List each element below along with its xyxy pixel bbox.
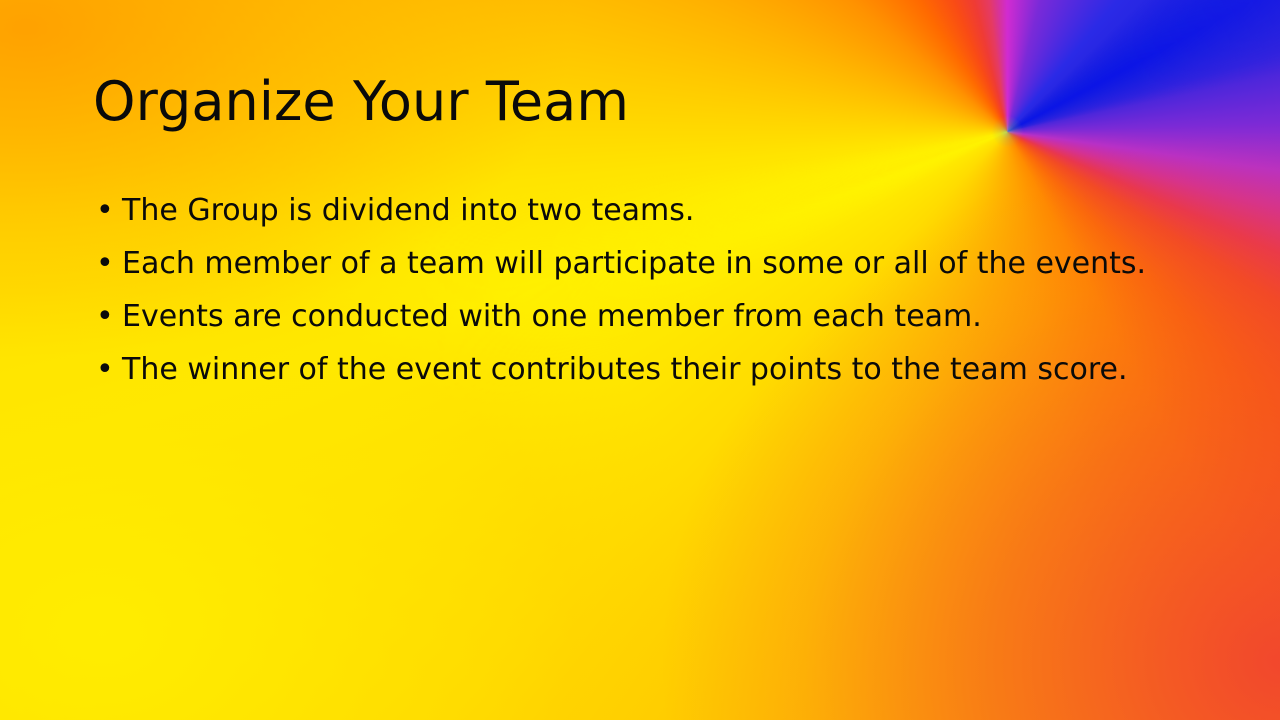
- bullet-text-2: Each member of a team will participate i…: [122, 247, 1146, 281]
- bullet-point-icon: •: [96, 247, 122, 281]
- bullet-point-icon: •: [96, 300, 122, 334]
- bullet-text-1: The Group is dividend into two teams.: [122, 194, 694, 228]
- bullet-item-4: • The winner of the event contributes th…: [96, 353, 1146, 406]
- slide-title: Organize Your Team: [93, 72, 629, 132]
- bullet-list: • The Group is dividend into two teams. …: [96, 194, 1146, 406]
- bullet-item-3: • Events are conducted with one member f…: [96, 300, 1146, 353]
- bullet-item-1: • The Group is dividend into two teams.: [96, 194, 1146, 247]
- bullet-point-icon: •: [96, 353, 122, 387]
- presentation-slide: Organize Your Team • The Group is divide…: [0, 0, 1280, 720]
- bullet-point-icon: •: [96, 194, 122, 228]
- slide-content: Organize Your Team • The Group is divide…: [0, 0, 1280, 720]
- bullet-item-2: • Each member of a team will participate…: [96, 247, 1146, 300]
- bullet-text-3: Events are conducted with one member fro…: [122, 300, 982, 334]
- bullet-text-4: The winner of the event contributes thei…: [122, 353, 1128, 387]
